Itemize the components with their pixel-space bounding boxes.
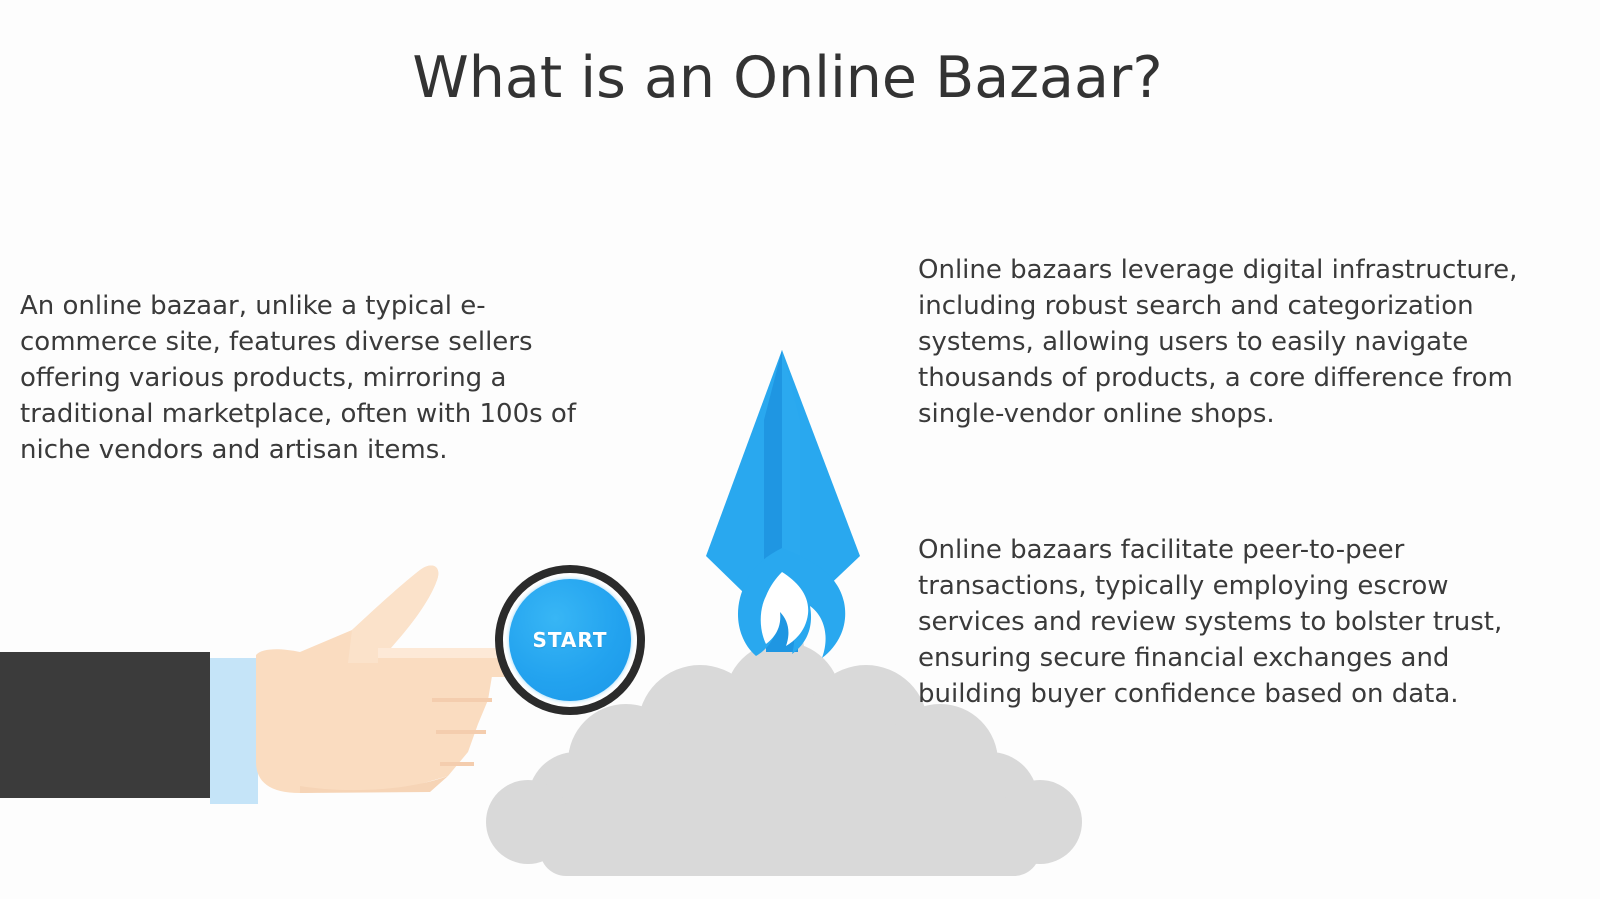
rocket-icon: [706, 350, 860, 652]
paragraph-right-bottom: Online bazaars facilitate peer-to-peer t…: [918, 532, 1518, 712]
page-title: What is an Online Bazaar?: [0, 46, 1575, 112]
cuff-shape: [210, 658, 258, 804]
start-button[interactable]: START: [495, 565, 653, 715]
paragraph-right-top: Online bazaars leverage digital infrastr…: [918, 252, 1518, 432]
start-button-label: START: [532, 628, 607, 652]
flame-icon: [738, 548, 845, 658]
sleeve-shape: [0, 652, 210, 798]
start-button-core[interactable]: START: [509, 579, 631, 701]
paragraph-left: An online bazaar, unlike a typical e-com…: [20, 288, 620, 468]
slide-canvas: What is an Online Bazaar?: [0, 0, 1600, 899]
